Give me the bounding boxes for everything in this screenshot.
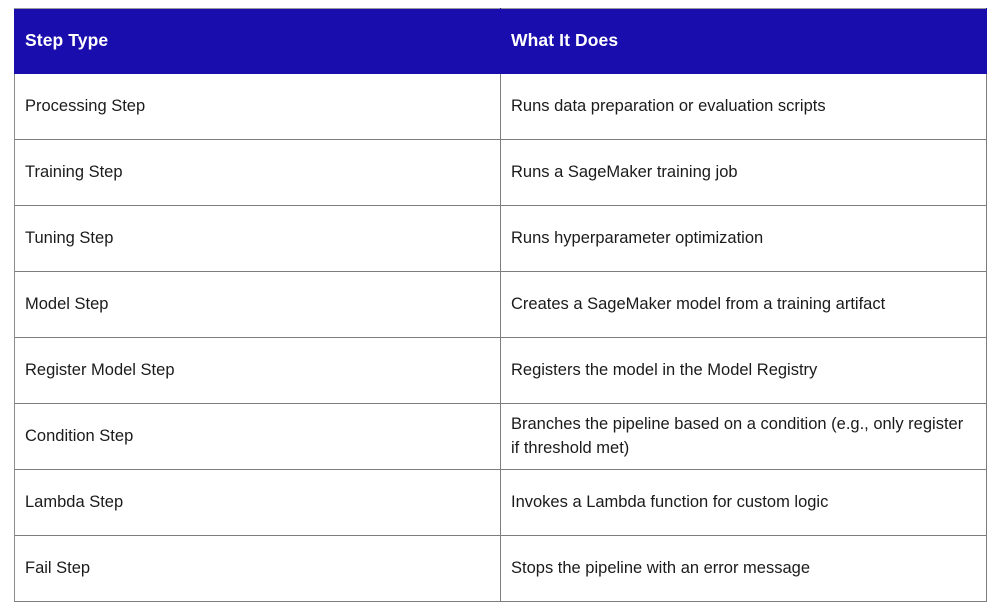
table-row: Training Step Runs a SageMaker training … [15, 140, 987, 206]
what-it-does-label: Creates a SageMaker model from a trainin… [511, 293, 972, 316]
cell-what-it-does: Stops the pipeline with an error message [501, 536, 987, 602]
table-row: Register Model Step Registers the model … [15, 338, 987, 404]
page-root: Step Type What It Does Processing Step R… [0, 0, 1000, 600]
step-type-label: Fail Step [25, 557, 486, 580]
step-type-label: Model Step [25, 293, 486, 316]
cell-step-type: Model Step [15, 272, 501, 338]
table-header: Step Type What It Does [15, 9, 987, 74]
step-type-label: Register Model Step [25, 359, 486, 382]
what-it-does-label: Invokes a Lambda function for custom log… [511, 491, 972, 514]
table-row: Condition Step Branches the pipeline bas… [15, 404, 987, 470]
cell-what-it-does: Creates a SageMaker model from a trainin… [501, 272, 987, 338]
cell-what-it-does: Invokes a Lambda function for custom log… [501, 470, 987, 536]
cell-what-it-does: Runs a SageMaker training job [501, 140, 987, 206]
cell-what-it-does: Runs hyperparameter optimization [501, 206, 987, 272]
what-it-does-label: Stops the pipeline with an error message [511, 557, 972, 580]
cell-step-type: Fail Step [15, 536, 501, 602]
table-row: Processing Step Runs data preparation or… [15, 74, 987, 140]
cell-step-type: Training Step [15, 140, 501, 206]
table-row: Lambda Step Invokes a Lambda function fo… [15, 470, 987, 536]
what-it-does-label: Registers the model in the Model Registr… [511, 359, 972, 382]
step-type-label: Processing Step [25, 95, 486, 118]
table-row: Tuning Step Runs hyperparameter optimiza… [15, 206, 987, 272]
step-type-label: Condition Step [25, 425, 486, 448]
what-it-does-label: Runs a SageMaker training job [511, 161, 972, 184]
step-type-label: Training Step [25, 161, 486, 184]
pipeline-step-types-table: Step Type What It Does Processing Step R… [14, 8, 987, 602]
cell-step-type: Processing Step [15, 74, 501, 140]
cell-what-it-does: Registers the model in the Model Registr… [501, 338, 987, 404]
cell-step-type: Register Model Step [15, 338, 501, 404]
cell-step-type: Tuning Step [15, 206, 501, 272]
table-container: Step Type What It Does Processing Step R… [14, 8, 986, 602]
table-header-row: Step Type What It Does [15, 9, 987, 74]
table-row: Fail Step Stops the pipeline with an err… [15, 536, 987, 602]
table-row: Model Step Creates a SageMaker model fro… [15, 272, 987, 338]
table-body: Processing Step Runs data preparation or… [15, 74, 987, 602]
cell-step-type: Lambda Step [15, 470, 501, 536]
column-header-what-it-does: What It Does [501, 9, 987, 74]
cell-what-it-does: Branches the pipeline based on a conditi… [501, 404, 987, 470]
what-it-does-label: Branches the pipeline based on a conditi… [511, 413, 972, 460]
what-it-does-label: Runs hyperparameter optimization [511, 227, 972, 250]
step-type-label: Lambda Step [25, 491, 486, 514]
column-header-step-type: Step Type [15, 9, 501, 74]
cell-what-it-does: Runs data preparation or evaluation scri… [501, 74, 987, 140]
cell-step-type: Condition Step [15, 404, 501, 470]
step-type-label: Tuning Step [25, 227, 486, 250]
what-it-does-label: Runs data preparation or evaluation scri… [511, 95, 972, 118]
